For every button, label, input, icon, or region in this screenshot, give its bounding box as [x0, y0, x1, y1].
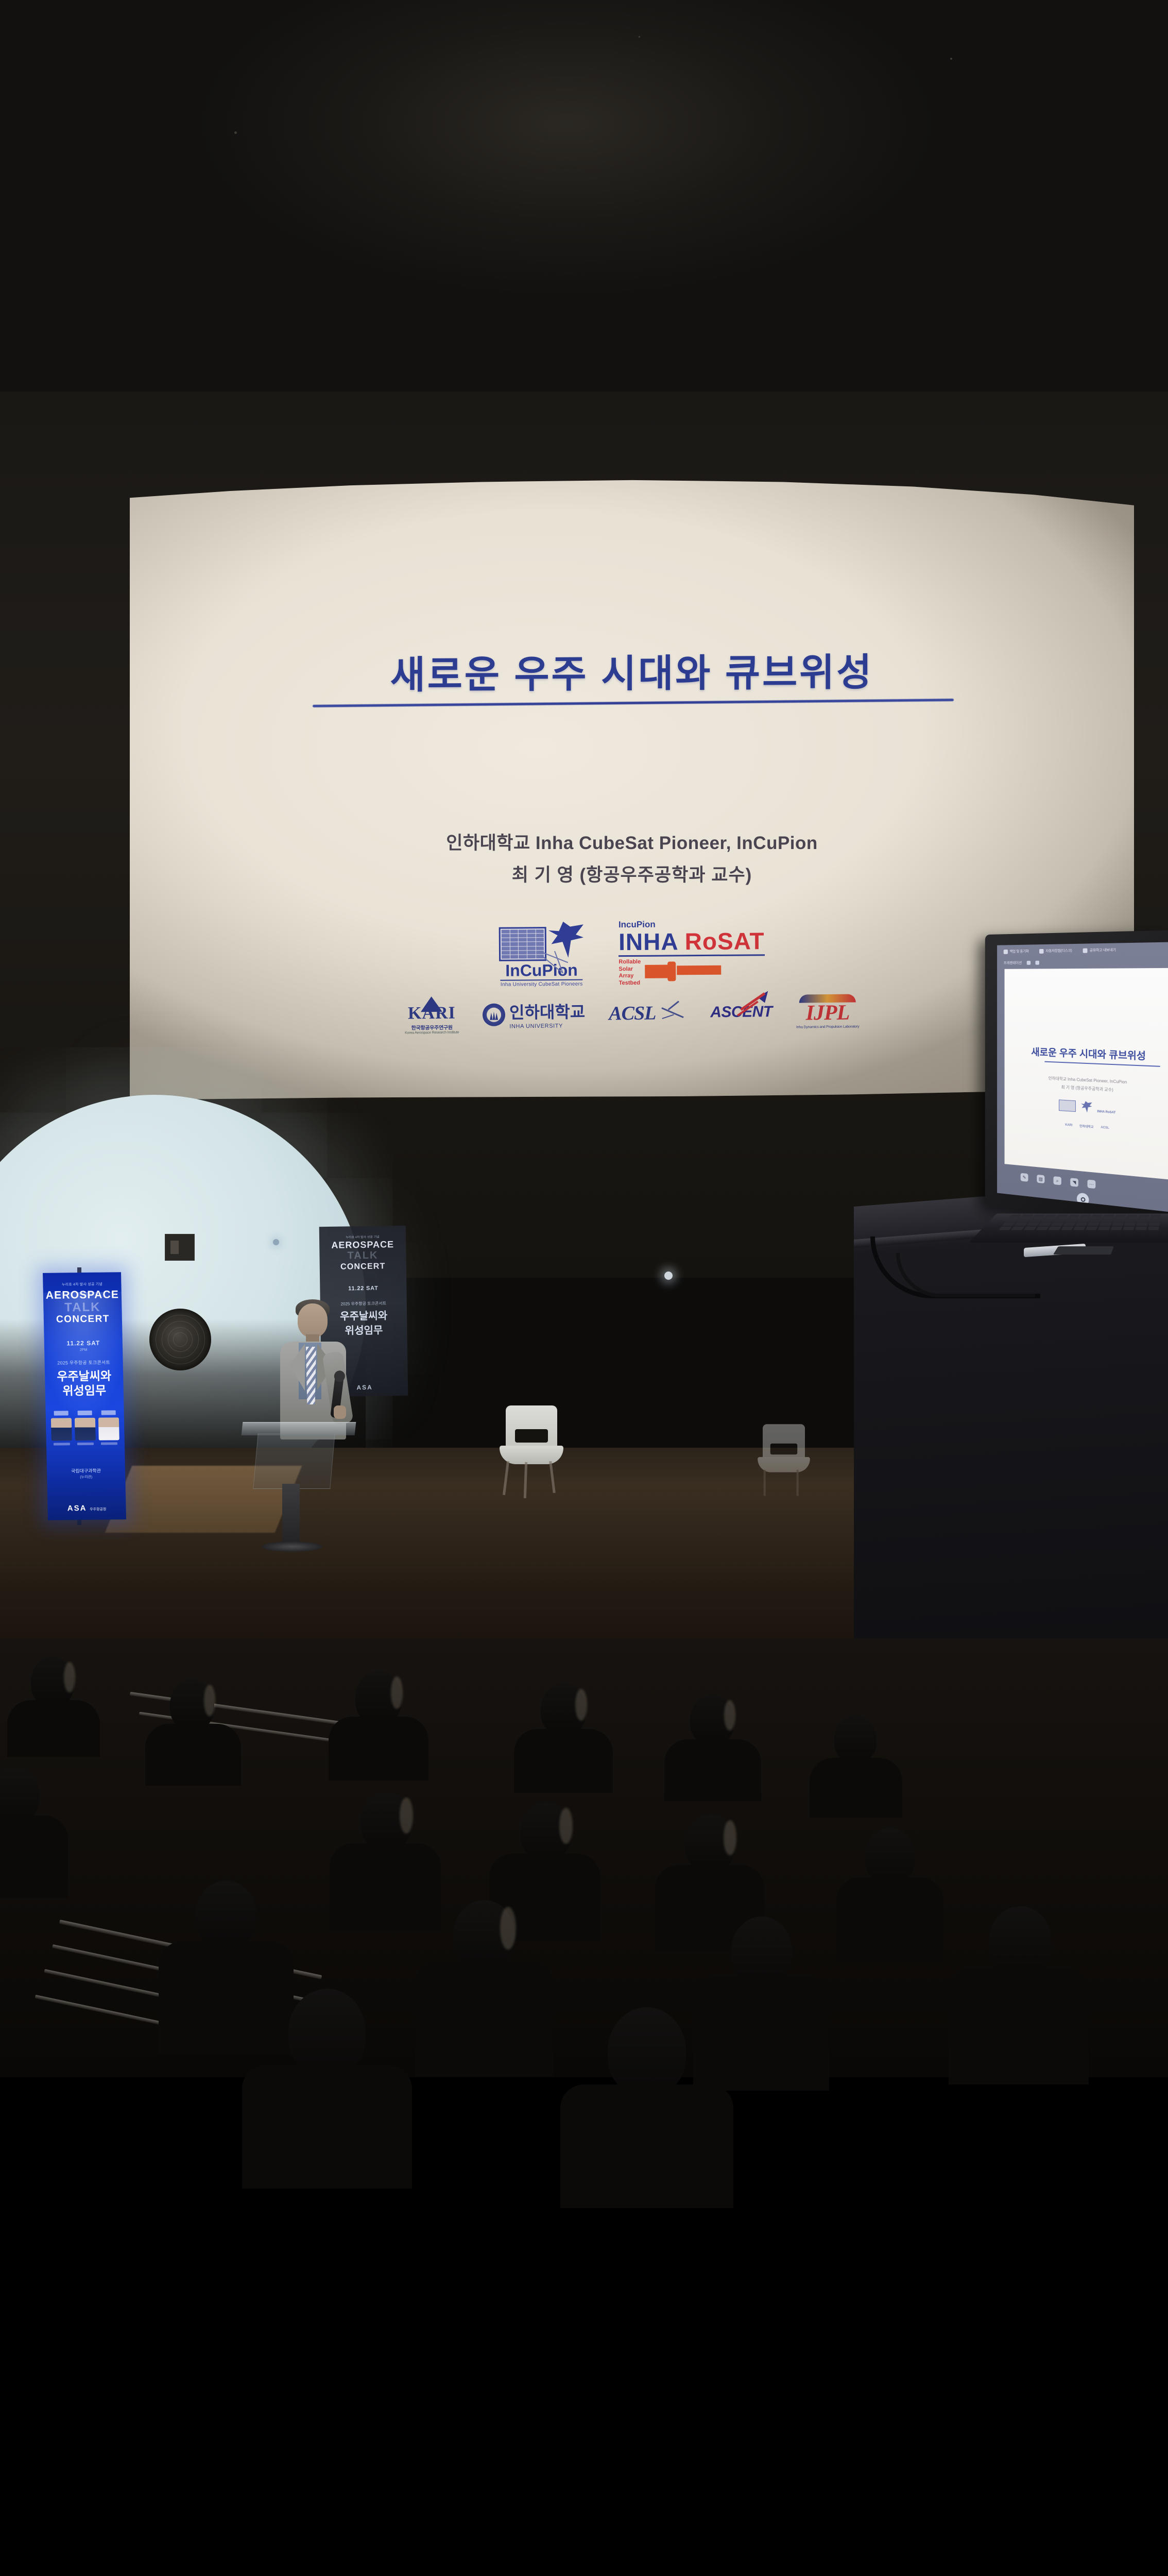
laptop-partner-label: 인하대학교 [1079, 1124, 1093, 1129]
audience-head [731, 1917, 792, 1985]
chair-leg [764, 1470, 766, 1496]
rosat-sub-line: Solar [619, 966, 641, 973]
menubar-item-backup[interactable]: 백업 및 동기화 [1004, 948, 1029, 954]
lectern-stem [282, 1484, 300, 1546]
banner-org-sub: 우주항공청 [90, 1508, 106, 1512]
audience-head [288, 1989, 366, 2075]
rosat-sub-line: Array [619, 973, 641, 980]
kari-sub-ko: 한국항공우주연구원 [411, 1023, 453, 1031]
poster-date: 11.22 SAT [320, 1285, 406, 1292]
stage-chair [752, 1424, 815, 1500]
ceiling-speck [950, 58, 952, 60]
pen-icon[interactable]: ✎ [1021, 1173, 1028, 1182]
banner-venue-sub: (누리관) [47, 1474, 125, 1480]
presenter-laptop[interactable]: 백업 및 동기화 자동저장됨(디스크) 공유하고 내보내기 프레젠테이션 [978, 933, 1168, 1283]
kari-logo: KARI 한국항공우주연구원 Korea Aerospace Research … [404, 996, 459, 1035]
audience-head [834, 1716, 877, 1763]
save-icon [1039, 948, 1043, 953]
banner-topic-line2: 위성임무 [45, 1380, 124, 1399]
audience-shoulders [329, 1717, 428, 1781]
audience-shoulders [159, 1941, 294, 2055]
poster-title-talk: TALK [319, 1249, 406, 1262]
audience-head [865, 1828, 915, 1884]
rosat-underline [619, 955, 764, 957]
zoom-icon[interactable]: ⌕ [1054, 1176, 1061, 1185]
rosat-word-inha: INHA [619, 928, 678, 956]
presenter-tie [306, 1347, 316, 1404]
laptop-partner-label: KARI [1065, 1123, 1072, 1127]
rosat-sub-line: Rollable [619, 959, 641, 966]
audience-head [608, 2007, 686, 2095]
audience-shoulders [949, 1968, 1089, 2084]
acsl-logo: ACSL [609, 1002, 686, 1025]
banner-speaker [51, 1411, 72, 1445]
audience-shoulders [330, 1843, 441, 1931]
share-icon [1083, 948, 1088, 953]
incupion-logo: InCuPion Inha University CubeSat Pioneer… [499, 919, 584, 988]
keyboard-row [1006, 1218, 1160, 1222]
laptop-slide-title: 새로운 우주 시대와 큐브위성 [1005, 1044, 1168, 1064]
satellite-icon [1081, 1101, 1092, 1113]
solar-panel-icon [1059, 1099, 1076, 1112]
laptop-slide-preview[interactable]: 새로운 우주 시대와 큐브위성 인하대학교 Inha CubeSat Pione… [1005, 968, 1168, 1180]
menubar-item-share[interactable]: 공유하고 내보내기 [1083, 947, 1116, 953]
banner-title-concert: CONCERT [44, 1313, 122, 1326]
ascent-logo: ASCENT [710, 1003, 772, 1021]
record-icon[interactable] [1077, 1193, 1089, 1207]
stage-indicator-light [273, 1239, 279, 1245]
more-icon[interactable]: ⋯ [1087, 1180, 1095, 1189]
auditorium-house [0, 1638, 1168, 2077]
audience-head [685, 1815, 735, 1871]
banner-speaker-photos [51, 1410, 119, 1445]
acsl-aircraft-icon [659, 1003, 686, 1024]
presenter-head [298, 1303, 328, 1337]
slide-title-underline [313, 699, 954, 707]
banner-series: 2025 우주항공 토크콘서트 [44, 1359, 123, 1366]
wall-panel [165, 1234, 195, 1261]
rosat-wordmark: INHA RoSAT [619, 929, 765, 954]
banner-org: ASA 우주항공청 [47, 1503, 126, 1513]
banner-date: 11.22 SAT [44, 1339, 123, 1347]
audience-head [170, 1680, 214, 1730]
rosat-word-rosat: RoSAT [684, 928, 764, 955]
audience-head [989, 1906, 1052, 1976]
incupion-mark-icon [499, 919, 584, 961]
highlighter-icon[interactable]: ▨ [1037, 1175, 1044, 1183]
ceiling-speck [639, 36, 640, 38]
acsl-wordmark: ACSL [609, 1002, 656, 1025]
lectern-panel [253, 1433, 335, 1489]
incupion-tagline: Inha University CubeSat Pioneers [501, 979, 583, 988]
inha-university-logo: 인하대학교 INHA UNIVERSITY [483, 999, 586, 1030]
keyboard-row [1009, 1214, 1161, 1217]
menubar-label: 공유하고 내보내기 [1090, 947, 1116, 953]
slide-title: 새로운 우주 시대와 큐브위성 [130, 640, 1134, 701]
chair-back-slot [770, 1444, 797, 1454]
presenter-hand [334, 1405, 346, 1419]
menubar-item-autosave[interactable]: 자동저장됨(디스크) [1039, 948, 1072, 954]
rocket-icon [735, 990, 780, 1021]
inha-seal-icon [483, 1004, 505, 1026]
audience-head [520, 1802, 572, 1860]
laptop-toolbar[interactable]: 프레젠테이션 [997, 956, 1168, 968]
menubar-label: 자동저장됨(디스크) [1045, 948, 1072, 954]
ceiling-spot-light [664, 1272, 673, 1280]
satellite-legs-icon [539, 951, 587, 967]
audience-shoulders [560, 2084, 733, 2208]
menubar-label: 백업 및 동기화 [1010, 948, 1029, 954]
wall-speaker-icon [149, 1309, 211, 1370]
stage-chair [493, 1405, 570, 1498]
slide-subtitle-line2: 최 기 영 (항공우주공학과 교수) [130, 860, 1134, 887]
audience-head [196, 1880, 256, 1948]
lecture-hall-scene: 새로운 우주 시대와 큐브위성 인하대학교 Inha CubeSat Pione… [0, 0, 1168, 2077]
chair-leg [524, 1462, 527, 1498]
lectern-base [262, 1541, 322, 1552]
event-rollup-banner: 누리호 4차 발사 성공 기념 AEROSPACE TALK CONCERT 1… [43, 1272, 126, 1520]
laptop-menubar[interactable]: 백업 및 동기화 자동저장됨(디스크) 공유하고 내보내기 [997, 942, 1168, 958]
lectern [242, 1422, 355, 1546]
audience-shoulders [693, 1976, 829, 2091]
banner-eyebrow: 누리호 4차 발사 성공 기념 [43, 1281, 121, 1287]
audience-shoulders [242, 2065, 412, 2189]
laptop-lid: 백업 및 동기화 자동저장됨(디스크) 공유하고 내보내기 프레젠테이션 [985, 930, 1168, 1227]
ijpl-logo: IJPL Inha Dynamics and Propulsion Labora… [796, 994, 859, 1029]
chair-leg [797, 1470, 799, 1496]
ijpl-sub: Inha Dynamics and Propulsion Laboratory [796, 1025, 860, 1029]
kari-sub-en: Korea Aerospace Research Institute [405, 1031, 459, 1035]
laptop-keyboard[interactable] [999, 1214, 1161, 1230]
banner-speaker [98, 1410, 119, 1445]
laptop-logo-label: INHA RoSAT [1097, 1110, 1116, 1114]
kari-wordmark: KARI [408, 1004, 456, 1024]
audience-shoulders [0, 1816, 68, 1898]
toolbar-edit-icon[interactable] [1026, 961, 1030, 965]
inha-wordmarks: 인하대학교 INHA UNIVERSITY [509, 999, 586, 1030]
audience-head [453, 1900, 515, 1969]
rollable-array-icon [645, 959, 722, 984]
rosat-sub-line: Testbed [619, 979, 641, 987]
laptop-slide-partners: KARI 인하대학교 ACSL [1005, 1118, 1168, 1135]
ceiling-speck [234, 131, 237, 134]
banner-title-talk: TALK [43, 1300, 122, 1315]
laptop-slide-logos: INHA RoSAT [1005, 1096, 1168, 1118]
audience-shoulders [810, 1758, 902, 1818]
rosat-sublogo: Rollable Solar Array Testbed [619, 958, 722, 987]
laptop-trackpad[interactable] [1053, 1246, 1114, 1255]
audience-shoulders [514, 1729, 613, 1793]
audience-head [0, 1767, 39, 1823]
ijpl-wordmark: IJPL [805, 1000, 849, 1025]
audience-shoulders [7, 1700, 100, 1757]
audience-head [31, 1657, 74, 1706]
inha-rosat-logo: IncuPion INHA RoSAT Rollable Solar Array [619, 919, 765, 987]
cloud-icon [1004, 950, 1008, 954]
audience-head [355, 1671, 402, 1724]
audience-head [541, 1684, 586, 1735]
audience-shoulders [836, 1877, 943, 1963]
slide-subtitle-line1: 인하대학교 Inha CubeSat Pioneer, InCuPion [130, 828, 1134, 855]
poster-title-concert: CONCERT [320, 1262, 406, 1272]
chair-leg [503, 1461, 509, 1495]
keyboard-row [999, 1227, 1159, 1230]
audience-shoulders [145, 1724, 241, 1786]
chair-leg [549, 1461, 556, 1493]
audience-head [360, 1792, 412, 1850]
rosat-sub-words: Rollable Solar Array Testbed [619, 959, 641, 987]
banner-venue: 국립대구과학관 [47, 1467, 125, 1475]
audience-shoulders [664, 1739, 761, 1801]
inha-wordmark-ko: 인하대학교 [509, 999, 586, 1024]
audience-shoulders [415, 1961, 553, 2076]
toolbar-view-icon[interactable] [1035, 961, 1039, 965]
pointer-icon[interactable]: ◥ [1070, 1178, 1078, 1187]
inha-wordmark-en: INHA UNIVERSITY [509, 1023, 585, 1030]
keyboard-row [1002, 1223, 1160, 1226]
banner-org-mark: ASA [67, 1504, 87, 1513]
laptop-partner-label: ACSL [1101, 1126, 1109, 1129]
audience-head [690, 1695, 734, 1744]
banner-speaker [75, 1411, 96, 1445]
laptop-screen[interactable]: 백업 및 동기화 자동저장됨(디스크) 공유하고 내보내기 프레젠테이션 [997, 942, 1168, 1212]
toolbar-app-label: 프레젠테이션 [1004, 960, 1022, 965]
chair-back-slot [515, 1429, 548, 1443]
